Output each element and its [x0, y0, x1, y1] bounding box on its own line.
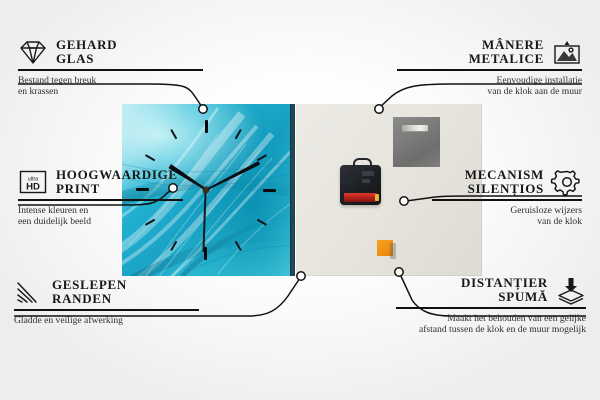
clock-tick-3 — [206, 189, 276, 191]
clock-tick-12 — [205, 120, 207, 190]
mechanism-detail — [345, 172, 354, 186]
mechanism-detail — [362, 171, 374, 176]
callout-header: DISTANȚIER SPUMĂ — [396, 276, 586, 304]
callout-polished-edges: GESLEPEN RANDEN Gladde en veilige afwerk… — [14, 278, 199, 326]
callout-divider — [18, 69, 203, 71]
clock-center-cap — [203, 187, 209, 193]
callout-foam-spacer: DISTANȚIER SPUMĂ Maakt het behouden van … — [396, 276, 586, 336]
callout-divider — [14, 309, 199, 311]
metal-hanger-plate — [393, 117, 440, 167]
callout-divider — [432, 199, 582, 201]
callout-header: ultra HD HOOGWAARDIGE PRINT — [18, 168, 183, 196]
callout-title: MÂNERE METALICE — [469, 38, 544, 66]
callout-title: GEHARD GLAS — [56, 38, 117, 66]
callout-header: GEHARD GLAS — [18, 38, 203, 66]
callout-tempered-glass: GEHARD GLAS Bestand tegen breuk en krass… — [18, 38, 203, 98]
callout-title: DISTANȚIER SPUMĂ — [461, 276, 548, 304]
diamond-icon — [18, 38, 48, 66]
framed-picture-icon — [552, 38, 582, 66]
hanger-slot — [402, 125, 428, 131]
press-down-layers-icon — [556, 276, 586, 304]
callout-title: HOOGWAARDIGE PRINT — [56, 168, 178, 196]
mechanism-hanging-loop — [353, 158, 372, 170]
callout-title: GESLEPEN RANDEN — [52, 278, 127, 306]
infographic-canvas: GEHARD GLAS Bestand tegen breuk en krass… — [0, 0, 600, 400]
callout-title: MECANISM SILENȚIOS — [465, 168, 544, 196]
callout-metal-handles: MÂNERE METALICE Eenvoudige installatie v… — [397, 38, 582, 98]
callout-divider — [397, 69, 582, 71]
callout-divider — [396, 307, 586, 309]
callout-header: GESLEPEN RANDEN — [14, 278, 199, 306]
gear-icon — [552, 168, 582, 196]
clock-glass-edge — [290, 104, 295, 276]
callout-high-quality-print: ultra HD HOOGWAARDIGE PRINT Intense kleu… — [18, 168, 183, 228]
callout-divider — [18, 199, 183, 201]
svg-text:HD: HD — [26, 182, 40, 193]
battery — [344, 193, 377, 202]
foam-spacer-block — [377, 240, 393, 256]
ultra-hd-icon: ultra HD — [18, 168, 48, 196]
clock-mechanism — [340, 165, 381, 205]
callout-header: MÂNERE METALICE — [397, 38, 582, 66]
callout-header: MECANISM SILENȚIOS — [432, 168, 582, 196]
callout-silent-mechanism: MECANISM SILENȚIOS Geruisloze wijzers va… — [432, 168, 582, 228]
diagonal-lines-icon — [14, 278, 44, 306]
mechanism-detail — [362, 179, 370, 183]
